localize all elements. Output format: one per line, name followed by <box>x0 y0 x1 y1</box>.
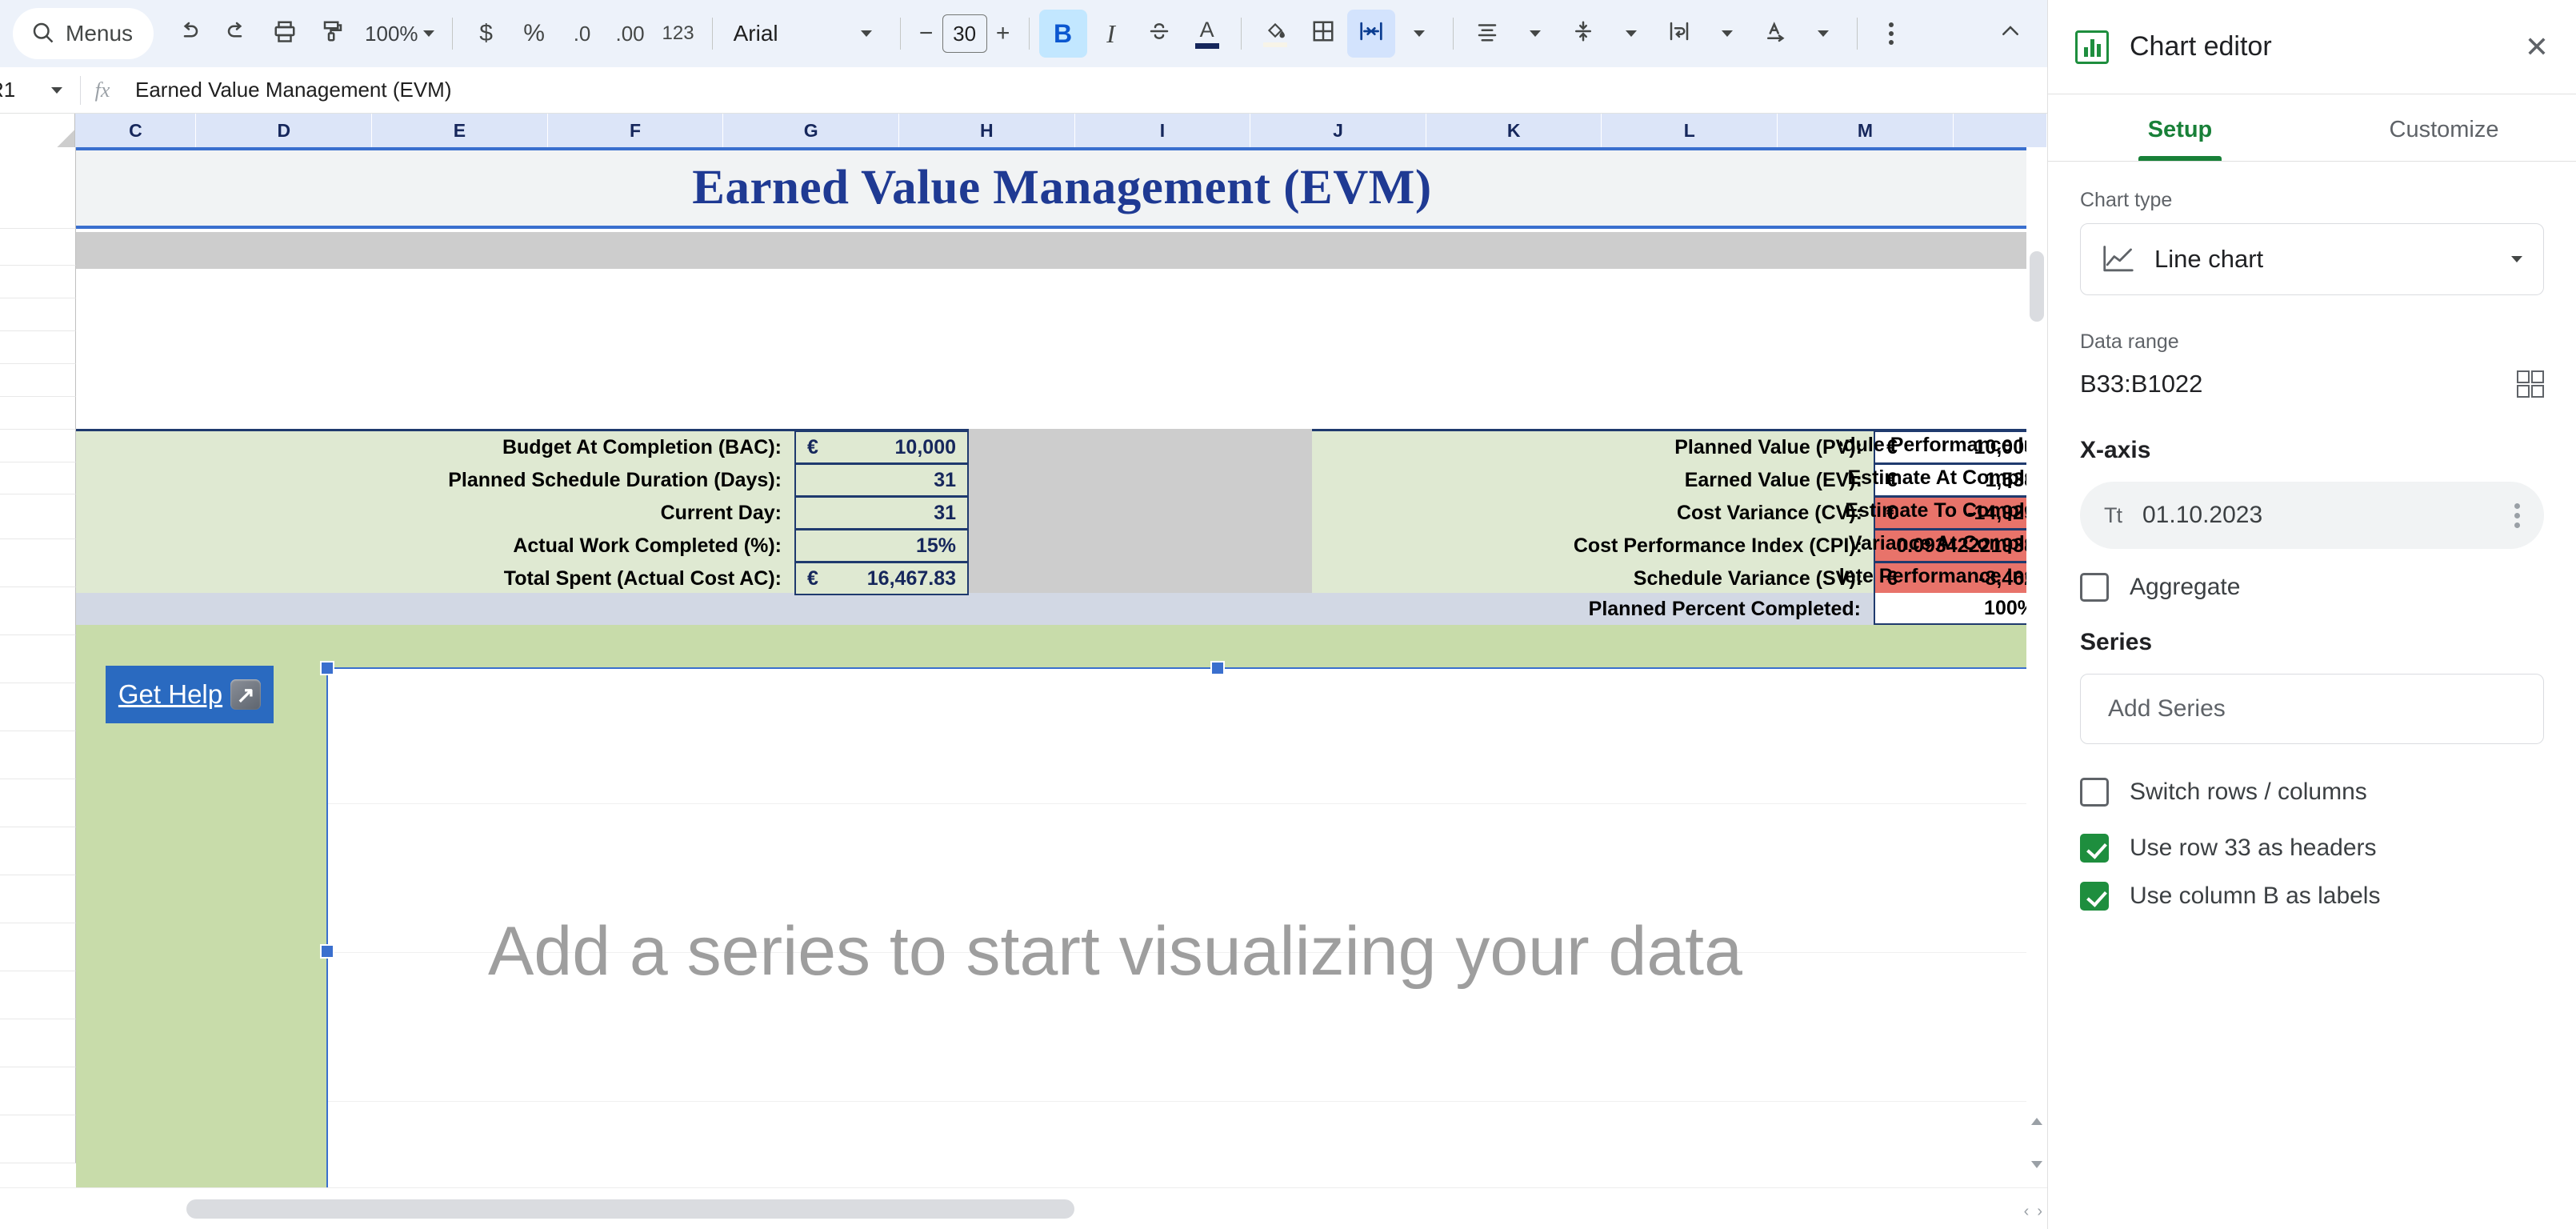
increase-decimal-icon: .00 <box>615 22 644 46</box>
row-header[interactable] <box>0 462 76 494</box>
switch-rows-columns-checkbox[interactable] <box>2080 778 2109 807</box>
vertical-align-button[interactable] <box>1559 10 1607 58</box>
chevron-up-icon <box>1998 19 2022 49</box>
sheet-title: Earned Value Management (EVM) <box>692 160 1431 216</box>
text-color-icon: A <box>1195 19 1219 49</box>
resize-handle-nw[interactable] <box>320 661 334 675</box>
more-options-button[interactable] <box>1867 10 1915 58</box>
scroll-arrows[interactable]: ‹ › <box>2024 1203 2042 1221</box>
name-box-value: R1 <box>0 78 15 102</box>
chevron-down-icon <box>1530 30 1541 37</box>
toolbar: Menus <box>0 0 2047 67</box>
column-header-I[interactable]: I <box>1075 114 1251 147</box>
row-header[interactable] <box>0 827 76 875</box>
row-label: Estimate To Completi <box>1840 494 2047 527</box>
more-options-icon[interactable] <box>2514 503 2520 528</box>
horizontal-scrollbar[interactable]: ‹ › <box>0 1187 2047 1229</box>
text-rotation-icon <box>1763 19 1787 49</box>
text-color-button[interactable]: A <box>1183 10 1231 58</box>
sheet-title-cell[interactable]: Earned Value Management (EVM) <box>76 147 2047 229</box>
font-family-value: Arial <box>734 21 778 46</box>
column-header-M[interactable]: M <box>1778 114 1954 147</box>
font-family-dropdown[interactable] <box>842 10 890 58</box>
undo-button[interactable] <box>165 10 213 58</box>
paint-format-button[interactable] <box>309 10 357 58</box>
scroll-right-arrow-icon[interactable]: › <box>2037 1203 2042 1221</box>
font-size-input[interactable]: 30 <box>942 14 987 53</box>
table-row[interactable]: Budget At Completion (BAC): € 10,000 <box>76 431 969 464</box>
chart-icon <box>2075 30 2109 64</box>
select-all-corner[interactable] <box>0 114 75 147</box>
scroll-up-arrow-icon[interactable] <box>2031 1118 2042 1125</box>
row-header[interactable] <box>0 147 76 229</box>
row-header[interactable] <box>0 298 76 331</box>
row-label: Variance At Completi <box>1840 527 2047 560</box>
currency-symbol: € <box>796 567 818 590</box>
zoom-value: 100% <box>365 22 418 46</box>
fill-color-icon <box>1263 20 1287 47</box>
column-headers: C D E F G H I J K L M <box>0 114 2047 147</box>
toolbar-divider-2 <box>712 18 713 50</box>
row-header[interactable] <box>0 331 76 364</box>
row-header[interactable] <box>0 635 76 683</box>
row-value-cell[interactable]: 15% <box>794 530 969 562</box>
column-header-H[interactable]: H <box>899 114 1075 147</box>
row-value-cell[interactable]: € 16,467.83 <box>794 562 969 595</box>
column-header-J[interactable]: J <box>1250 114 1426 147</box>
percent-icon: % <box>523 20 545 47</box>
select-data-range-icon[interactable] <box>2517 370 2544 398</box>
strikethrough-button[interactable] <box>1135 10 1183 58</box>
use-row-as-headers-label: Use row 33 as headers <box>2130 835 2377 862</box>
currency-format-button[interactable]: $ <box>462 10 510 58</box>
paint-format-icon <box>321 19 345 49</box>
row-value: 100% <box>1875 597 2046 620</box>
aggregate-checkbox[interactable] <box>2080 573 2109 602</box>
horizontal-align-button[interactable] <box>1463 10 1511 58</box>
redo-icon <box>225 19 249 49</box>
borders-button[interactable] <box>1299 10 1347 58</box>
chevron-down-icon <box>423 30 434 37</box>
data-range-value[interactable]: B33:B1022 <box>2080 370 2202 398</box>
row-label: Planned Value (PV): <box>1312 436 1874 459</box>
add-series-button[interactable]: Add Series <box>2080 674 2544 744</box>
chart-editor-title: Chart editor <box>2130 31 2272 62</box>
italic-icon: I <box>1106 19 1115 49</box>
evm-secondary-labels: Schedule Performance Ind Estimate At Com… <box>1840 429 2047 593</box>
toolbar-divider-6 <box>1453 18 1454 50</box>
fill-color-button[interactable] <box>1251 10 1299 58</box>
column-header-C[interactable]: C <box>75 114 196 147</box>
chevron-down-icon <box>861 30 872 37</box>
row-header[interactable] <box>0 1115 76 1163</box>
row-header[interactable] <box>0 430 76 462</box>
resize-handle-n[interactable] <box>1210 661 1225 675</box>
middle-gray-band <box>969 429 1312 593</box>
get-help-label: Get Help <box>118 679 222 710</box>
search-icon <box>30 20 54 48</box>
print-icon <box>273 19 297 49</box>
vertical-align-icon <box>1571 19 1595 49</box>
row-header[interactable] <box>0 229 76 266</box>
chevron-down-icon <box>1414 30 1425 37</box>
row-label: Schedule Variance (SV): <box>1312 567 1874 590</box>
row-value: 31 <box>934 469 967 492</box>
use-row-as-headers-row[interactable]: Use row 33 as headers <box>2080 834 2544 863</box>
row-header[interactable] <box>0 364 76 397</box>
text-wrap-icon <box>1667 19 1691 49</box>
row-label: Schedule Performance Ind <box>1840 429 2047 462</box>
formula-input[interactable]: Earned Value Management (EVM) <box>124 78 452 102</box>
sheet-body: Earned Value Management (EVM) Budget At … <box>76 147 2047 1229</box>
increase-decimal-button[interactable]: .00 <box>606 10 654 58</box>
use-column-as-labels-row[interactable]: Use column B as labels <box>2080 882 2544 911</box>
horizontal-align-dropdown[interactable] <box>1511 10 1559 58</box>
tab-setup[interactable]: Setup <box>2048 94 2312 161</box>
data-range-label: Data range <box>2080 330 2544 354</box>
font-family-selector[interactable]: Arial <box>722 10 842 58</box>
text-type-icon: Tt <box>2104 503 2122 528</box>
spacer-band <box>76 232 2047 269</box>
toolbar-divider-3 <box>900 18 901 50</box>
vertical-scroll-thumb[interactable] <box>2030 251 2044 322</box>
menus-search-button[interactable]: Menus <box>13 8 154 59</box>
vertical-align-dropdown[interactable] <box>1607 10 1655 58</box>
row-value-cell[interactable]: 31 <box>794 497 969 530</box>
row-value-cell[interactable]: € 10,000 <box>794 431 969 464</box>
borders-icon <box>1311 19 1335 49</box>
get-help-button[interactable]: Get Help <box>106 666 274 723</box>
row-header[interactable] <box>0 731 76 779</box>
row-header[interactable] <box>0 587 76 635</box>
aggregate-checkbox-row[interactable]: Aggregate <box>2080 573 2544 602</box>
merge-cells-icon <box>1358 19 1384 49</box>
strikethrough-icon <box>1147 19 1171 49</box>
column-header-L[interactable]: L <box>1602 114 1778 147</box>
row-header[interactable] <box>0 779 76 827</box>
grid-rows: Earned Value Management (EVM) Budget At … <box>0 147 2047 1229</box>
chart-type-label: Chart type <box>2080 189 2544 212</box>
data-range-row[interactable]: B33:B1022 <box>2080 370 2544 398</box>
print-button[interactable] <box>261 10 309 58</box>
italic-button[interactable]: I <box>1087 10 1135 58</box>
merge-dropdown[interactable] <box>1395 10 1443 58</box>
fx-icon: fx <box>81 78 124 102</box>
row-value: 31 <box>934 502 967 525</box>
switch-rows-columns-row[interactable]: Switch rows / columns <box>2080 778 2544 807</box>
undo-icon <box>177 19 201 49</box>
chart-editor-panel: Chart editor ✕ Setup Customize Chart typ… <box>2048 0 2576 1229</box>
tab-customize[interactable]: Customize <box>2312 94 2576 161</box>
row-header[interactable] <box>0 397 76 430</box>
toolbar-right-group <box>1986 10 2034 58</box>
close-icon[interactable]: ✕ <box>2525 30 2549 64</box>
chart-editor-tabs: Setup Customize <box>2048 94 2576 162</box>
formula-bar: R1 fx Earned Value Management (EVM) <box>0 67 2047 114</box>
use-column-as-labels-label: Use column B as labels <box>2130 883 2380 910</box>
chart-options: Switch rows / columns Use row 33 as head… <box>2080 778 2544 911</box>
chevron-down-icon <box>1626 30 1637 37</box>
menus-label: Menus <box>66 21 133 46</box>
row-header[interactable] <box>0 1067 76 1115</box>
row-label: Cost Performance Index (CPI): <box>1312 534 1874 558</box>
row-value: 15% <box>916 534 967 558</box>
chevron-down-icon <box>1818 30 1829 37</box>
table-row[interactable]: Actual Work Completed (%): 15% <box>76 530 969 562</box>
row-value: 10,000 <box>895 436 967 459</box>
decrease-decimal-button[interactable]: .0 <box>558 10 606 58</box>
number-formats-icon: 123 <box>662 22 694 45</box>
bold-icon: B <box>1054 19 1072 49</box>
use-column-as-labels-checkbox[interactable] <box>2080 882 2109 911</box>
toolbar-divider <box>452 18 453 50</box>
row-label: Budget At Completion (BAC): <box>76 436 794 459</box>
row-header[interactable] <box>0 539 76 587</box>
row-label: Planned Schedule Duration (Days): <box>76 469 794 492</box>
row-label: Earned Value (EV): <box>1312 469 1874 492</box>
horizontal-align-icon <box>1475 19 1499 49</box>
chart-object[interactable]: Add a series to start visualizing your d… <box>326 667 2047 1229</box>
evm-inputs-panel: Budget At Completion (BAC): € 10,000 Pla… <box>76 429 969 593</box>
row-headers <box>0 147 76 1163</box>
zoom-control[interactable]: 100% <box>357 10 442 58</box>
row-label: Total Spent (Actual Cost AC): <box>76 567 794 590</box>
chart-placeholder-text: Add a series to start visualizing your d… <box>328 669 2047 1229</box>
decrease-font-size-button[interactable]: − <box>910 20 942 47</box>
merge-cells-button[interactable] <box>1347 10 1395 58</box>
column-header-D[interactable]: D <box>196 114 372 147</box>
row-value: 16,467.83 <box>867 567 967 590</box>
row-label: Current Day: <box>76 502 794 525</box>
percent-format-button[interactable]: % <box>510 10 558 58</box>
row-label: Cost Variance (CV): <box>1312 502 1874 525</box>
column-header-K[interactable]: K <box>1426 114 1602 147</box>
currency-icon: $ <box>479 20 493 47</box>
chart-editor-header: Chart editor ✕ <box>2048 0 2576 94</box>
row-header[interactable] <box>0 494 76 539</box>
row-header[interactable] <box>0 683 76 731</box>
row-header[interactable] <box>0 923 76 971</box>
chevron-down-icon <box>2511 256 2522 262</box>
external-link-icon <box>230 679 261 710</box>
x-axis-label: X-axis <box>2080 437 2544 464</box>
more-options-icon <box>1889 22 1894 45</box>
bold-button[interactable]: B <box>1039 10 1087 58</box>
column-header-F[interactable]: F <box>548 114 724 147</box>
row-value-cell[interactable]: 31 <box>794 464 969 497</box>
chart-type-select[interactable]: Line chart <box>2080 223 2544 295</box>
spreadsheet-app: Menus <box>0 0 2576 1229</box>
decrease-decimal-icon: .0 <box>574 22 591 46</box>
row-label: Actual Work Completed (%): <box>76 534 794 558</box>
increase-font-size-button[interactable]: + <box>987 20 1019 47</box>
x-axis-value: 01.10.2023 <box>2142 502 2262 529</box>
table-row[interactable]: Planned Schedule Duration (Days): 31 <box>76 464 969 497</box>
row-header[interactable] <box>0 266 76 298</box>
scroll-down-arrow-icon[interactable] <box>2031 1161 2042 1168</box>
redo-button[interactable] <box>213 10 261 58</box>
row-label: mplete Performance Inde <box>1840 560 2047 593</box>
chevron-down-icon <box>51 87 62 94</box>
text-rotation-button[interactable] <box>1751 10 1799 58</box>
grid-area: C D E F G H I J K L M <box>0 114 2047 1229</box>
horizontal-scroll-thumb[interactable] <box>186 1199 1074 1219</box>
row-label: Planned Percent Completed: <box>1312 598 1874 621</box>
spreadsheet-pane: Menus <box>0 0 2048 1229</box>
switch-rows-columns-label: Switch rows / columns <box>2130 779 2367 806</box>
vertical-scrollbar[interactable] <box>2026 147 2047 1187</box>
row-label: Estimate At Completi <box>1840 462 2047 494</box>
column-header-N[interactable] <box>1954 114 2047 147</box>
toolbar-divider-7 <box>1857 18 1858 50</box>
row-header[interactable] <box>0 875 76 923</box>
text-rotation-dropdown[interactable] <box>1799 10 1847 58</box>
more-formats-button[interactable]: 123 <box>654 10 702 58</box>
chart-type-value: Line chart <box>2154 245 2263 274</box>
series-label: Series <box>2080 629 2544 656</box>
row-header[interactable] <box>0 1019 76 1067</box>
toolbar-divider-5 <box>1241 18 1242 50</box>
x-axis-chip[interactable]: Tt 01.10.2023 <box>2080 482 2544 549</box>
row-value-cell[interactable]: 100% <box>1874 593 2047 625</box>
chevron-down-icon <box>1722 30 1733 37</box>
collapse-toolbar-button[interactable] <box>1986 10 2034 58</box>
table-row[interactable]: Total Spent (Actual Cost AC): € 16,467.8… <box>76 562 969 595</box>
resize-handle-w[interactable] <box>320 944 334 959</box>
currency-symbol: € <box>796 436 818 459</box>
column-header-G[interactable]: G <box>723 114 899 147</box>
scroll-left-arrow-icon[interactable]: ‹ <box>2024 1203 2030 1221</box>
planned-percent-row[interactable]: Planned Percent Completed: 100% <box>1312 593 2047 625</box>
text-wrapping-dropdown[interactable] <box>1703 10 1751 58</box>
name-box[interactable]: R1 <box>0 78 80 102</box>
toolbar-divider-4 <box>1029 18 1030 50</box>
aggregate-label: Aggregate <box>2130 574 2240 601</box>
row-header[interactable] <box>0 971 76 1019</box>
text-wrapping-button[interactable] <box>1655 10 1703 58</box>
use-row-as-headers-checkbox[interactable] <box>2080 834 2109 863</box>
table-row[interactable]: Current Day: 31 <box>76 497 969 530</box>
line-chart-icon <box>2102 244 2135 274</box>
column-header-E[interactable]: E <box>372 114 548 147</box>
chart-editor-body: Chart type Line chart Data range B33:B10… <box>2048 162 2576 957</box>
